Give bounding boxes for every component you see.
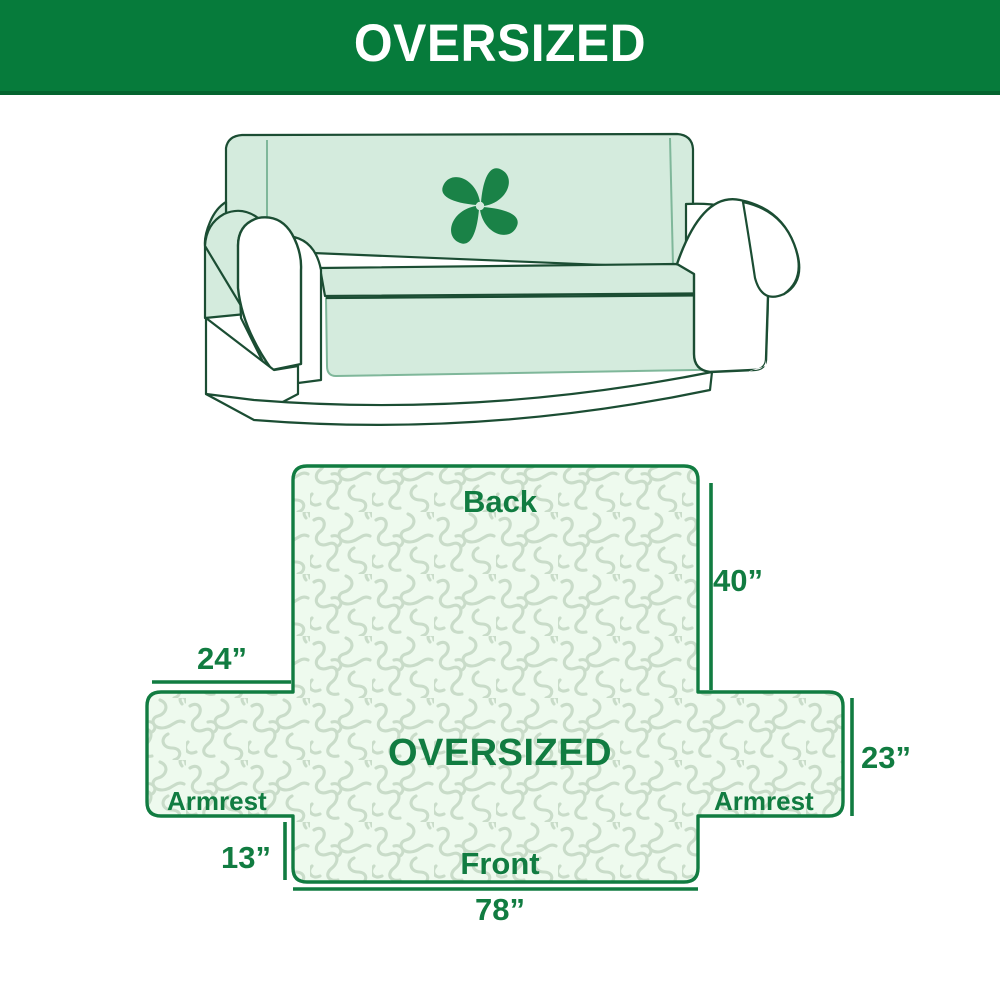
dimension-label-78: 78” bbox=[0, 892, 1000, 928]
section-label-armrest-right: Armrest bbox=[714, 786, 814, 817]
cover-body-pattern bbox=[140, 460, 856, 890]
section-label-armrest-left: Armrest bbox=[167, 786, 267, 817]
center-label-oversized: OVERSIZED bbox=[0, 732, 1000, 775]
dimension-label-23: 23” bbox=[861, 740, 911, 776]
page-title: OVERSIZED bbox=[30, 14, 970, 74]
section-label-front: Front bbox=[0, 846, 1000, 882]
sofa-illustration bbox=[180, 118, 820, 438]
dimension-label-40: 40” bbox=[713, 563, 763, 599]
dimension-label-24: 24” bbox=[197, 641, 247, 677]
dimension-diagram: Back 40” 24” OVERSIZED 23” Armrest Armre… bbox=[0, 450, 1000, 950]
sofa-arm-left-roll-front bbox=[238, 217, 301, 370]
section-label-back: Back bbox=[0, 484, 1000, 520]
header-banner: OVERSIZED bbox=[0, 0, 1000, 95]
sofa-svg bbox=[180, 118, 820, 438]
